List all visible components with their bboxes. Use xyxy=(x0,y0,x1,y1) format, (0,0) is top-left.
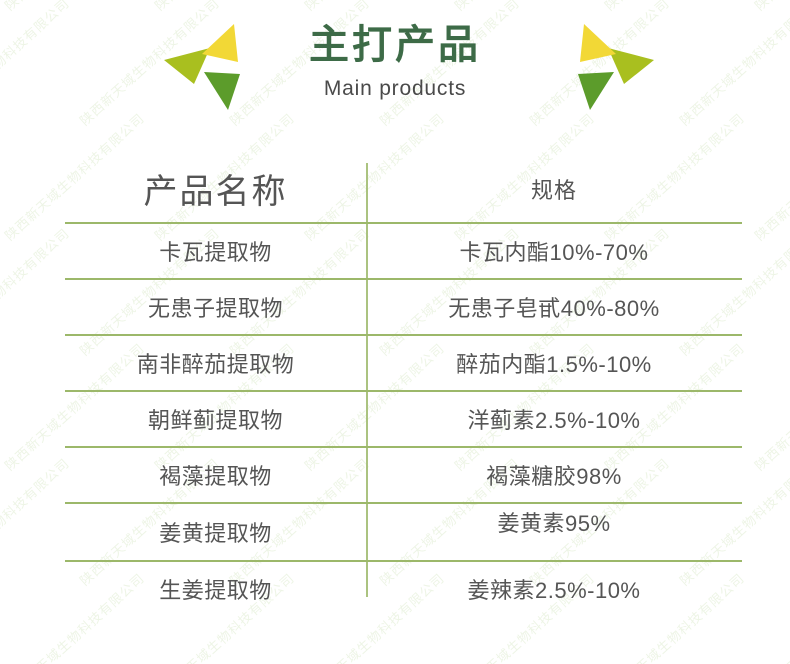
page-header: 主打产品 Main products xyxy=(0,0,790,148)
table-header-row: 产品名称 规格 xyxy=(65,155,742,223)
cell-specification: 醉茄内酯1.5%-10% xyxy=(366,335,742,391)
cell-product-name: 南非醉茄提取物 xyxy=(65,335,366,391)
page-title: 主打产品 xyxy=(0,22,790,69)
table-row: 朝鲜蓟提取物 洋蓟素2.5%-10% xyxy=(65,391,742,447)
table-row: 无患子提取物 无患子皂甙40%-80% xyxy=(65,279,742,335)
cell-product-name: 卡瓦提取物 xyxy=(65,223,366,279)
table-row: 生姜提取物 姜辣素2.5%-10% xyxy=(65,561,742,616)
table-row: 卡瓦提取物 卡瓦内酯10%-70% xyxy=(65,223,742,279)
cell-product-name: 生姜提取物 xyxy=(65,561,366,616)
table-row: 南非醉茄提取物 醉茄内酯1.5%-10% xyxy=(65,335,742,391)
page-subtitle: Main products xyxy=(0,77,790,101)
cell-specification: 褐藻糖胶98% xyxy=(366,447,742,503)
products-table: 产品名称 规格 卡瓦提取物 卡瓦内酯10%-70% 无患子提取物 无患子皂甙40… xyxy=(65,155,742,616)
cell-product-name: 朝鲜蓟提取物 xyxy=(65,391,366,447)
table-row: 姜黄提取物 姜黄素95% xyxy=(65,503,742,561)
cell-specification: 姜黄素95% xyxy=(366,503,742,561)
product-banner-page: 主打产品 Main products 产品名称 xyxy=(0,0,790,664)
column-divider xyxy=(366,163,368,597)
cell-product-name: 褐藻提取物 xyxy=(65,447,366,503)
column-header-specification: 规格 xyxy=(366,155,742,223)
table-body: 卡瓦提取物 卡瓦内酯10%-70% 无患子提取物 无患子皂甙40%-80% 南非… xyxy=(65,223,742,616)
cell-specification: 无患子皂甙40%-80% xyxy=(366,279,742,335)
column-header-product-name: 产品名称 xyxy=(65,155,366,223)
title-block: 主打产品 Main products xyxy=(0,22,790,101)
products-table-wrapper: 产品名称 规格 卡瓦提取物 卡瓦内酯10%-70% 无患子提取物 无患子皂甙40… xyxy=(65,155,742,600)
cell-specification: 卡瓦内酯10%-70% xyxy=(366,223,742,279)
triangle-cluster-right-icon xyxy=(548,18,660,130)
cell-specification: 姜辣素2.5%-10% xyxy=(366,561,742,616)
cell-product-name: 无患子提取物 xyxy=(65,279,366,335)
cell-product-name: 姜黄提取物 xyxy=(65,503,366,561)
cell-specification: 洋蓟素2.5%-10% xyxy=(366,391,742,447)
table-row: 褐藻提取物 褐藻糖胶98% xyxy=(65,447,742,503)
